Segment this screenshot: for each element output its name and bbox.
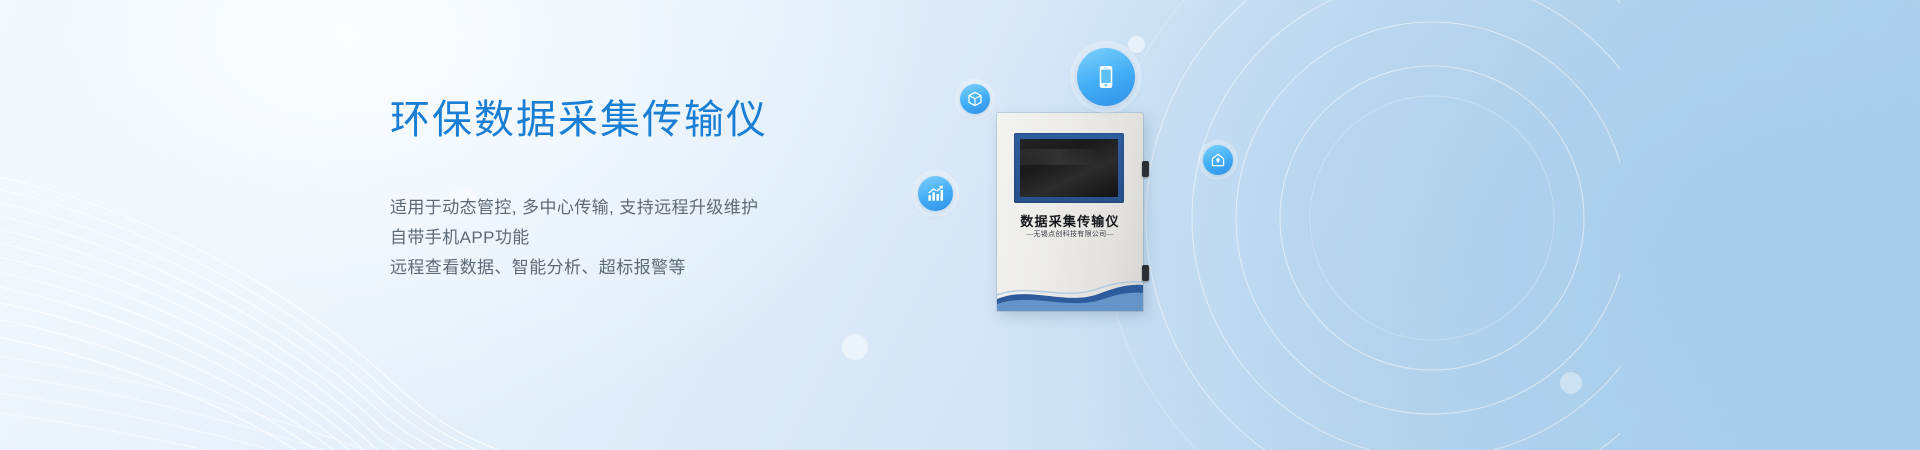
bokeh-circle [842, 334, 868, 360]
mobile-phone-icon[interactable] [1077, 48, 1135, 106]
device-screen [1020, 139, 1118, 197]
page-title: 环保数据采集传输仪 [390, 96, 910, 145]
alarm-bell-icon[interactable] [1203, 145, 1233, 175]
bokeh-circle [1128, 36, 1145, 53]
feature-list: 适用于动态管控, 多中心传输, 支持远程升级维护 自带手机APP功能 远程查看数… [390, 193, 910, 283]
hero-banner: 环保数据采集传输仪 适用于动态管控, 多中心传输, 支持远程升级维护 自带手机A… [0, 0, 1920, 450]
device-screen-bezel [1014, 133, 1124, 203]
bar-chart-growth-icon[interactable] [918, 176, 953, 211]
feature-line-1: 适用于动态管控, 多中心传输, 支持远程升级维护 [390, 193, 910, 223]
device-side-port [1142, 161, 1149, 177]
device-panel-title: 数据采集传输仪 [997, 211, 1143, 230]
device-panel-subtitle: —无锡点创科技有限公司— [997, 229, 1143, 239]
bokeh-circle [1560, 372, 1582, 394]
device-side-port [1142, 265, 1149, 281]
product-image: 数据采集传输仪 —无锡点创科技有限公司— [997, 113, 1143, 311]
feature-line-2: 自带手机APP功能 [390, 223, 910, 253]
decorative-arc-rings-right [1060, 0, 1620, 450]
hero-copy: 环保数据采集传输仪 适用于动态管控, 多中心传输, 支持远程升级维护 自带手机A… [390, 96, 910, 283]
cube-box-icon[interactable] [960, 84, 990, 114]
feature-line-3: 远程查看数据、智能分析、超标报警等 [390, 253, 910, 283]
device-wave-graphic [997, 273, 1143, 311]
